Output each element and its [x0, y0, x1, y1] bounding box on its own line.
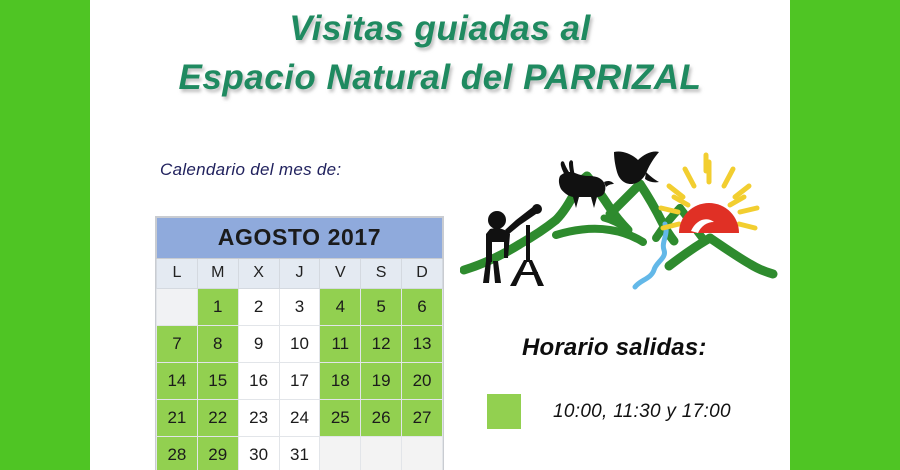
calendar-day-cell: 19 — [361, 363, 402, 400]
calendar-day-cell: 30 — [238, 437, 279, 470]
calendar-day-cell: 25 — [320, 400, 361, 437]
calendar-day-cell: 5 — [361, 289, 402, 326]
calendar-week-row: 1 2 3 4 5 6 — [157, 289, 443, 326]
calendar-day-cell: 20 — [402, 363, 443, 400]
right-green-bar — [790, 0, 900, 470]
calendar-day-cell: 13 — [402, 326, 443, 363]
calendar-day-cell — [157, 289, 198, 326]
calendar-day-cell: 6 — [402, 289, 443, 326]
parrizal-nature-logo — [460, 138, 780, 298]
calendar-week-row: 28 29 30 31 — [157, 437, 443, 470]
calendar-day-cell: 14 — [157, 363, 198, 400]
legend-times-label: 10:00, 11:30 y 17:00 — [553, 401, 731, 423]
calendar-day-cell: 9 — [238, 326, 279, 363]
weekday-header-m: M — [197, 259, 238, 289]
weekday-header-j: J — [279, 259, 320, 289]
calendar-day-cell: 3 — [279, 289, 320, 326]
calendar-day-cell: 7 — [157, 326, 198, 363]
calendar-day-cell: 22 — [197, 400, 238, 437]
calendar-day-cell: 15 — [197, 363, 238, 400]
calendar-weekday-row: L M X J V S D — [157, 259, 443, 289]
weekday-header-s: S — [361, 259, 402, 289]
page-title: Visitas guiadas al Espacio Natural del P… — [90, 4, 790, 102]
calendar-day-cell: 11 — [320, 326, 361, 363]
legend-green-swatch — [487, 394, 521, 429]
weekday-header-l: L — [157, 259, 198, 289]
poster-canvas: Visitas guiadas al Espacio Natural del P… — [0, 0, 900, 470]
calendar-day-cell: 4 — [320, 289, 361, 326]
calendar-day-cell — [361, 437, 402, 470]
schedule-legend: 10:00, 11:30 y 17:00 — [487, 394, 731, 429]
calendar-day-cell — [320, 437, 361, 470]
calendar-week-row: 7 8 9 10 11 12 13 — [157, 326, 443, 363]
left-green-bar — [0, 0, 90, 470]
calendar-day-cell: 23 — [238, 400, 279, 437]
calendar-day-cell: 10 — [279, 326, 320, 363]
calendar-day-cell: 31 — [279, 437, 320, 470]
poster-content: Visitas guiadas al Espacio Natural del P… — [90, 0, 790, 470]
calendar-week-row: 21 22 23 24 25 26 27 — [157, 400, 443, 437]
weekday-header-v: V — [320, 259, 361, 289]
calendar-day-cell: 27 — [402, 400, 443, 437]
calendar-day-cell: 16 — [238, 363, 279, 400]
calendar-day-cell: 18 — [320, 363, 361, 400]
calendar-caption: Calendario del mes de: — [160, 160, 341, 180]
calendar-day-cell — [402, 437, 443, 470]
calendar-day-cell: 26 — [361, 400, 402, 437]
title-line-2: Espacio Natural del PARRIZAL — [90, 53, 790, 102]
weekday-header-d: D — [402, 259, 443, 289]
calendar-day-cell: 29 — [197, 437, 238, 470]
calendar-day-cell: 28 — [157, 437, 198, 470]
schedule-heading: Horario salidas: — [522, 334, 707, 362]
calendar-month-header-row: AGOSTO 2017 — [157, 218, 443, 259]
vulture-icon — [614, 151, 659, 184]
calendar-day-cell: 12 — [361, 326, 402, 363]
calendar-week-row: 14 15 16 17 18 19 20 — [157, 363, 443, 400]
title-line-1: Visitas guiadas al — [90, 4, 790, 53]
calendar-day-cell: 21 — [157, 400, 198, 437]
calendar-day-cell: 2 — [238, 289, 279, 326]
calendar-month-label: AGOSTO 2017 — [157, 218, 443, 259]
calendar-day-cell: 8 — [197, 326, 238, 363]
calendar-day-cell: 24 — [279, 400, 320, 437]
weekday-header-x: X — [238, 259, 279, 289]
calendar-table: AGOSTO 2017 L M X J V S D 1 2 3 4 — [156, 217, 443, 470]
calendar-day-cell: 17 — [279, 363, 320, 400]
calendar-day-cell: 1 — [197, 289, 238, 326]
